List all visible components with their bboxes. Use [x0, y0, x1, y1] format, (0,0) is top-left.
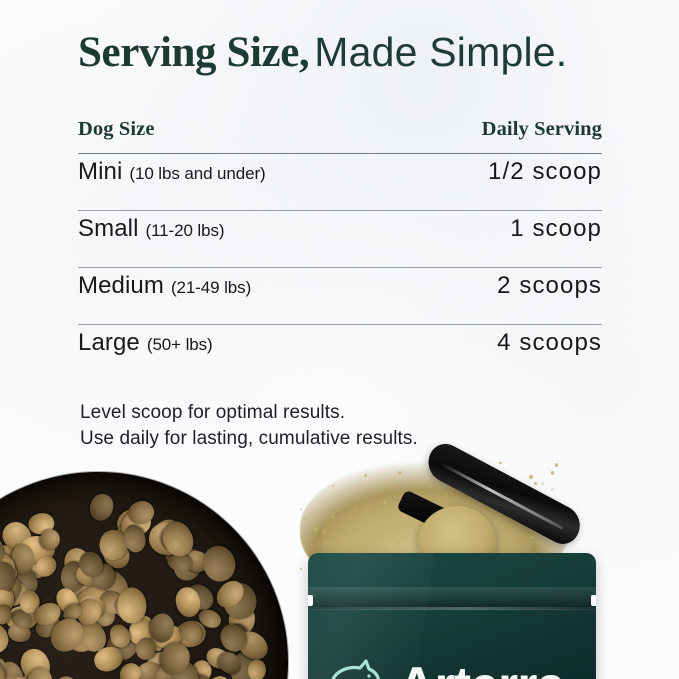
- dog-size-range: (11-20 lbs): [146, 221, 225, 241]
- table-row: Large (50+ lbs) 4 scoops: [78, 325, 602, 381]
- dog-size-range: (21-49 lbs): [171, 278, 251, 298]
- brand-lockup: Arterra: [328, 657, 564, 679]
- serving-size-table: Dog Size Daily Serving Mini (10 lbs and …: [78, 118, 602, 381]
- daily-serving-cell: 1/2 scoop: [488, 158, 602, 186]
- dog-food-bowl: [0, 472, 288, 679]
- dog-size-range: (50+ lbs): [147, 335, 213, 355]
- dog-size-cell: Medium (21-49 lbs): [78, 272, 251, 300]
- table-header-row: Dog Size Daily Serving: [78, 118, 602, 153]
- dog-size-range: (10 lbs and under): [129, 164, 265, 184]
- daily-serving-cell: 2 scoops: [497, 272, 602, 300]
- product-pouch: Arterra: [308, 553, 596, 679]
- column-header-daily-serving: Daily Serving: [482, 118, 602, 141]
- pouch-tear-notch-right: [591, 595, 596, 606]
- dog-size-cell: Large (50+ lbs): [78, 329, 213, 357]
- dog-logo-icon: [328, 657, 390, 679]
- dog-size-cell: Mini (10 lbs and under): [78, 158, 266, 186]
- serving-size-infographic: Serving Size,Made Simple. Dog Size Daily…: [0, 0, 679, 679]
- page-title-subtitle: Made Simple.: [314, 29, 567, 75]
- dog-size-name: Medium: [78, 272, 164, 300]
- table-row: Mini (10 lbs and under) 1/2 scoop: [78, 154, 602, 210]
- daily-serving-cell: 1 scoop: [510, 215, 602, 243]
- product-photo: Arterra: [0, 420, 679, 679]
- dog-size-name: Mini: [78, 158, 122, 186]
- dog-size-name: Large: [78, 329, 140, 357]
- pouch-tear-notch-left: [308, 595, 313, 606]
- page-title: Serving Size,Made Simple.: [78, 31, 567, 74]
- brand-name: Arterra: [398, 664, 564, 679]
- table-row: Medium (21-49 lbs) 2 scoops: [78, 268, 602, 324]
- dog-size-cell: Small (11-20 lbs): [78, 215, 224, 243]
- column-header-dog-size: Dog Size: [78, 118, 155, 141]
- page-title-emphasis: Serving Size,: [78, 29, 309, 76]
- dog-size-name: Small: [78, 215, 139, 243]
- table-row: Small (11-20 lbs) 1 scoop: [78, 211, 602, 267]
- daily-serving-cell: 4 scoops: [497, 329, 602, 357]
